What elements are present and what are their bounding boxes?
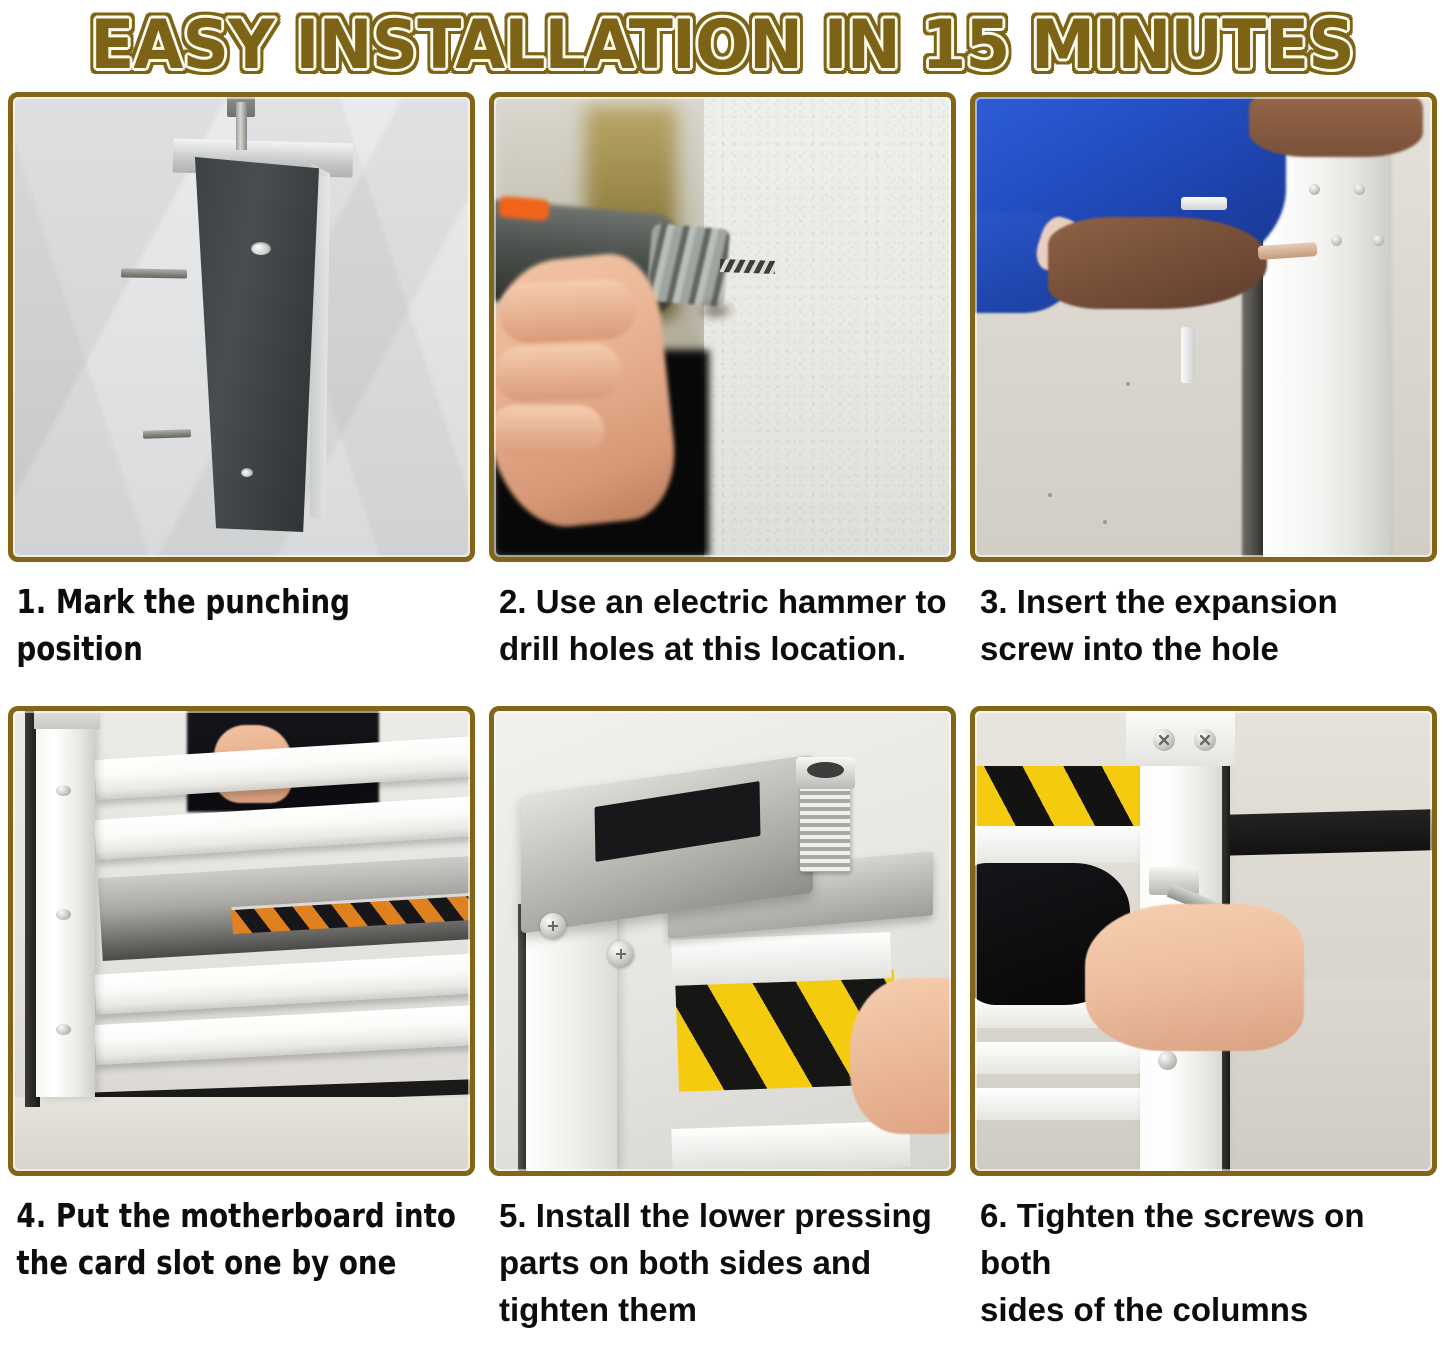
hand-tightening-screw <box>1085 904 1304 1051</box>
barrier-board-upper <box>671 933 892 987</box>
step-card-5: 5. Install the lower pressing parts on b… <box>489 706 956 1333</box>
finger-3 <box>494 405 604 456</box>
bracket-screw-upper <box>540 913 566 939</box>
expansion-bolt-lower <box>143 429 191 439</box>
column-cap <box>34 711 100 729</box>
scene-insert-expansion-screw <box>975 97 1432 557</box>
step-card-1: 1. Mark the punching position <box>8 92 475 706</box>
step-4-caption: 4. Put the motherboard into the card slo… <box>8 1176 487 1332</box>
white-column-with-card-slot <box>36 711 95 1097</box>
step-card-4: 4. Put the motherboard into the card slo… <box>8 706 475 1333</box>
barrier-board <box>975 1088 1149 1120</box>
step-5-photo-lower-pressing-parts <box>489 706 956 1176</box>
finger-2 <box>494 343 623 403</box>
hex-key-shaft <box>1181 327 1195 383</box>
black-skirting-seal <box>1226 810 1432 857</box>
step-5-caption: 5. Install the lower pressing parts on b… <box>489 1176 956 1333</box>
step-card-2: 2. Use an electric hammer to drill holes… <box>489 92 956 706</box>
step-2-caption: 2. Use an electric hammer to drill holes… <box>489 562 956 706</box>
installation-steps-grid: 1. Mark the punching position 2. Use an … <box>0 92 1445 1333</box>
finger-1 <box>497 277 637 344</box>
floor-speck <box>1048 493 1052 497</box>
floor-speck <box>1126 382 1130 386</box>
column-top-plate <box>1126 711 1236 766</box>
column-screw <box>1309 184 1320 195</box>
hazard-stripe-yellow-black <box>975 766 1140 826</box>
scene-drill-holes <box>494 97 951 557</box>
step-1-photo-mark-punching-position <box>8 92 475 562</box>
worker-forearm <box>1048 217 1267 309</box>
mounting-hole-upper <box>251 242 271 255</box>
hex-key-foot <box>1181 197 1227 210</box>
scene-lower-pressing-parts <box>494 711 951 1171</box>
barrier-board <box>975 826 1149 863</box>
scene-tighten-screws <box>975 711 1432 1171</box>
step-3-photo-insert-expansion-screw <box>970 92 1437 562</box>
barrier-board-lower <box>671 1121 910 1171</box>
step-3-caption: 3. Insert the expansion screw into the h… <box>970 562 1437 706</box>
step-card-6: 6. Tighten the screws on both sides of t… <box>970 706 1437 1333</box>
title-banner: EASY INSTALLATION IN 15 MINUTES <box>0 0 1445 92</box>
step-6-photo-tighten-screws <box>970 706 1437 1176</box>
hand-supporting-board <box>850 978 951 1134</box>
scene-mark-punching-position <box>13 97 470 557</box>
drill-chuck <box>646 223 730 308</box>
worker-second-hand <box>1249 97 1423 157</box>
top-threaded-stud <box>236 102 247 150</box>
expansion-bolt-upper <box>121 268 187 278</box>
step-6-caption: 6. Tighten the screws on both sides of t… <box>970 1176 1437 1333</box>
white-column <box>526 904 617 1171</box>
barrier-board <box>975 1042 1149 1074</box>
textured-white-wall <box>704 97 951 557</box>
mounting-hole-lower <box>241 468 253 477</box>
column-screw <box>1373 235 1384 246</box>
step-1-caption: 1. Mark the punching position <box>8 562 487 706</box>
drill-dust-cloud <box>695 299 736 322</box>
floor <box>13 1097 470 1171</box>
hex-bolt-socket <box>807 762 844 778</box>
masonry-drill-bit <box>720 259 775 274</box>
step-4-photo-motherboard-card-slot <box>8 706 475 1176</box>
page-title: EASY INSTALLATION IN 15 MINUTES <box>85 12 1360 80</box>
step-card-3: 3. Insert the expansion screw into the h… <box>970 92 1437 706</box>
step-2-photo-drill-holes <box>489 92 956 562</box>
column-screw <box>56 785 71 796</box>
scene-motherboard-card-slot <box>13 711 470 1171</box>
